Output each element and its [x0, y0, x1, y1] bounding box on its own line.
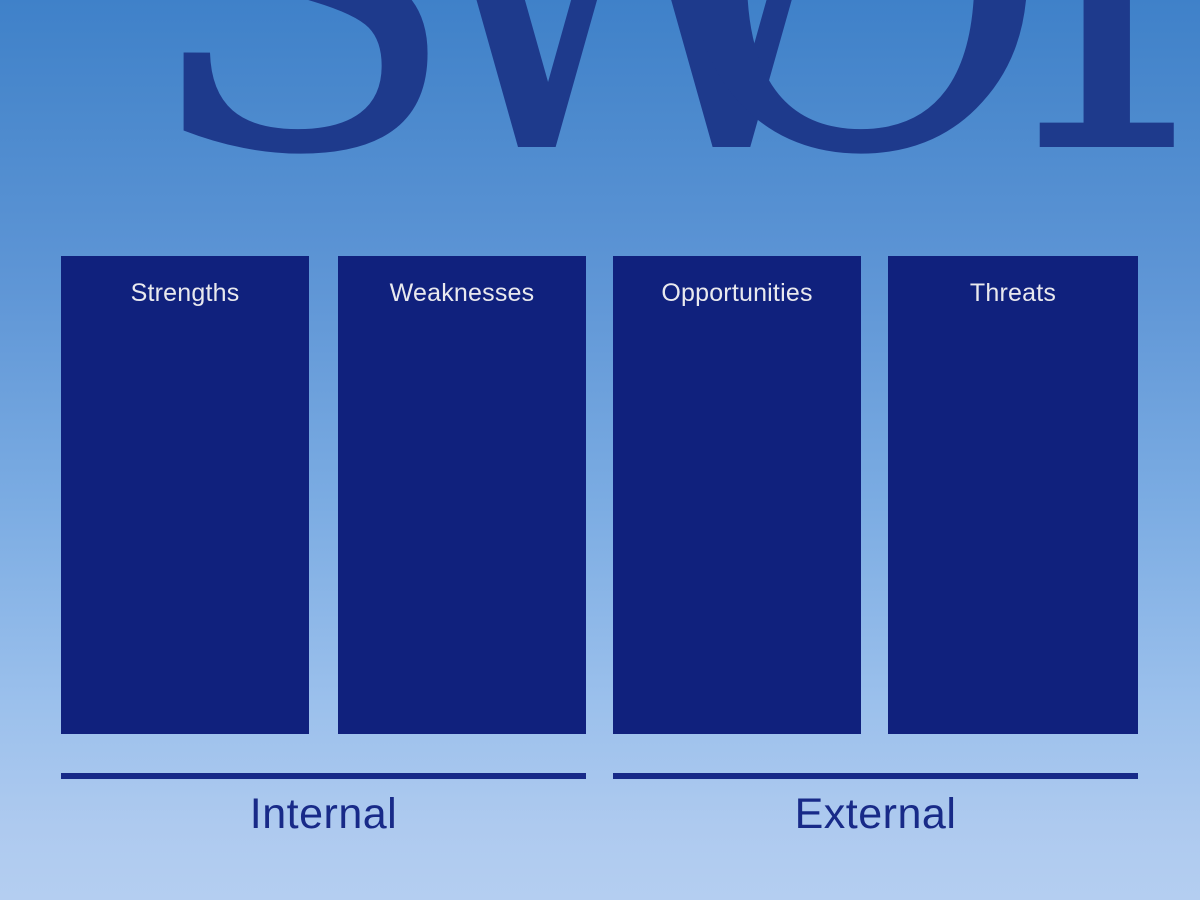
quadrant-strengths[interactable]: Strengths	[61, 256, 309, 734]
quadrant-label-strengths: Strengths	[61, 278, 309, 308]
quadrant-label-opportunities: Opportunities	[613, 278, 861, 308]
internal-group-caption: Internal	[61, 786, 586, 842]
quadrant-label-weaknesses: Weaknesses	[338, 278, 586, 308]
swot-diagram-canvas: S W O T Strengths Weaknesses Opportuniti…	[0, 0, 1200, 900]
quadrant-opportunities[interactable]: Opportunities	[613, 256, 861, 734]
quadrant-weaknesses[interactable]: Weaknesses	[338, 256, 586, 734]
external-group-caption: External	[613, 786, 1138, 842]
swot-quadrants: Strengths Weaknesses Opportunities Threa…	[0, 0, 1200, 900]
quadrant-threats[interactable]: Threats	[888, 256, 1138, 734]
quadrant-label-threats: Threats	[888, 278, 1138, 308]
external-group-rule	[613, 773, 1138, 779]
internal-group-rule	[61, 773, 586, 779]
